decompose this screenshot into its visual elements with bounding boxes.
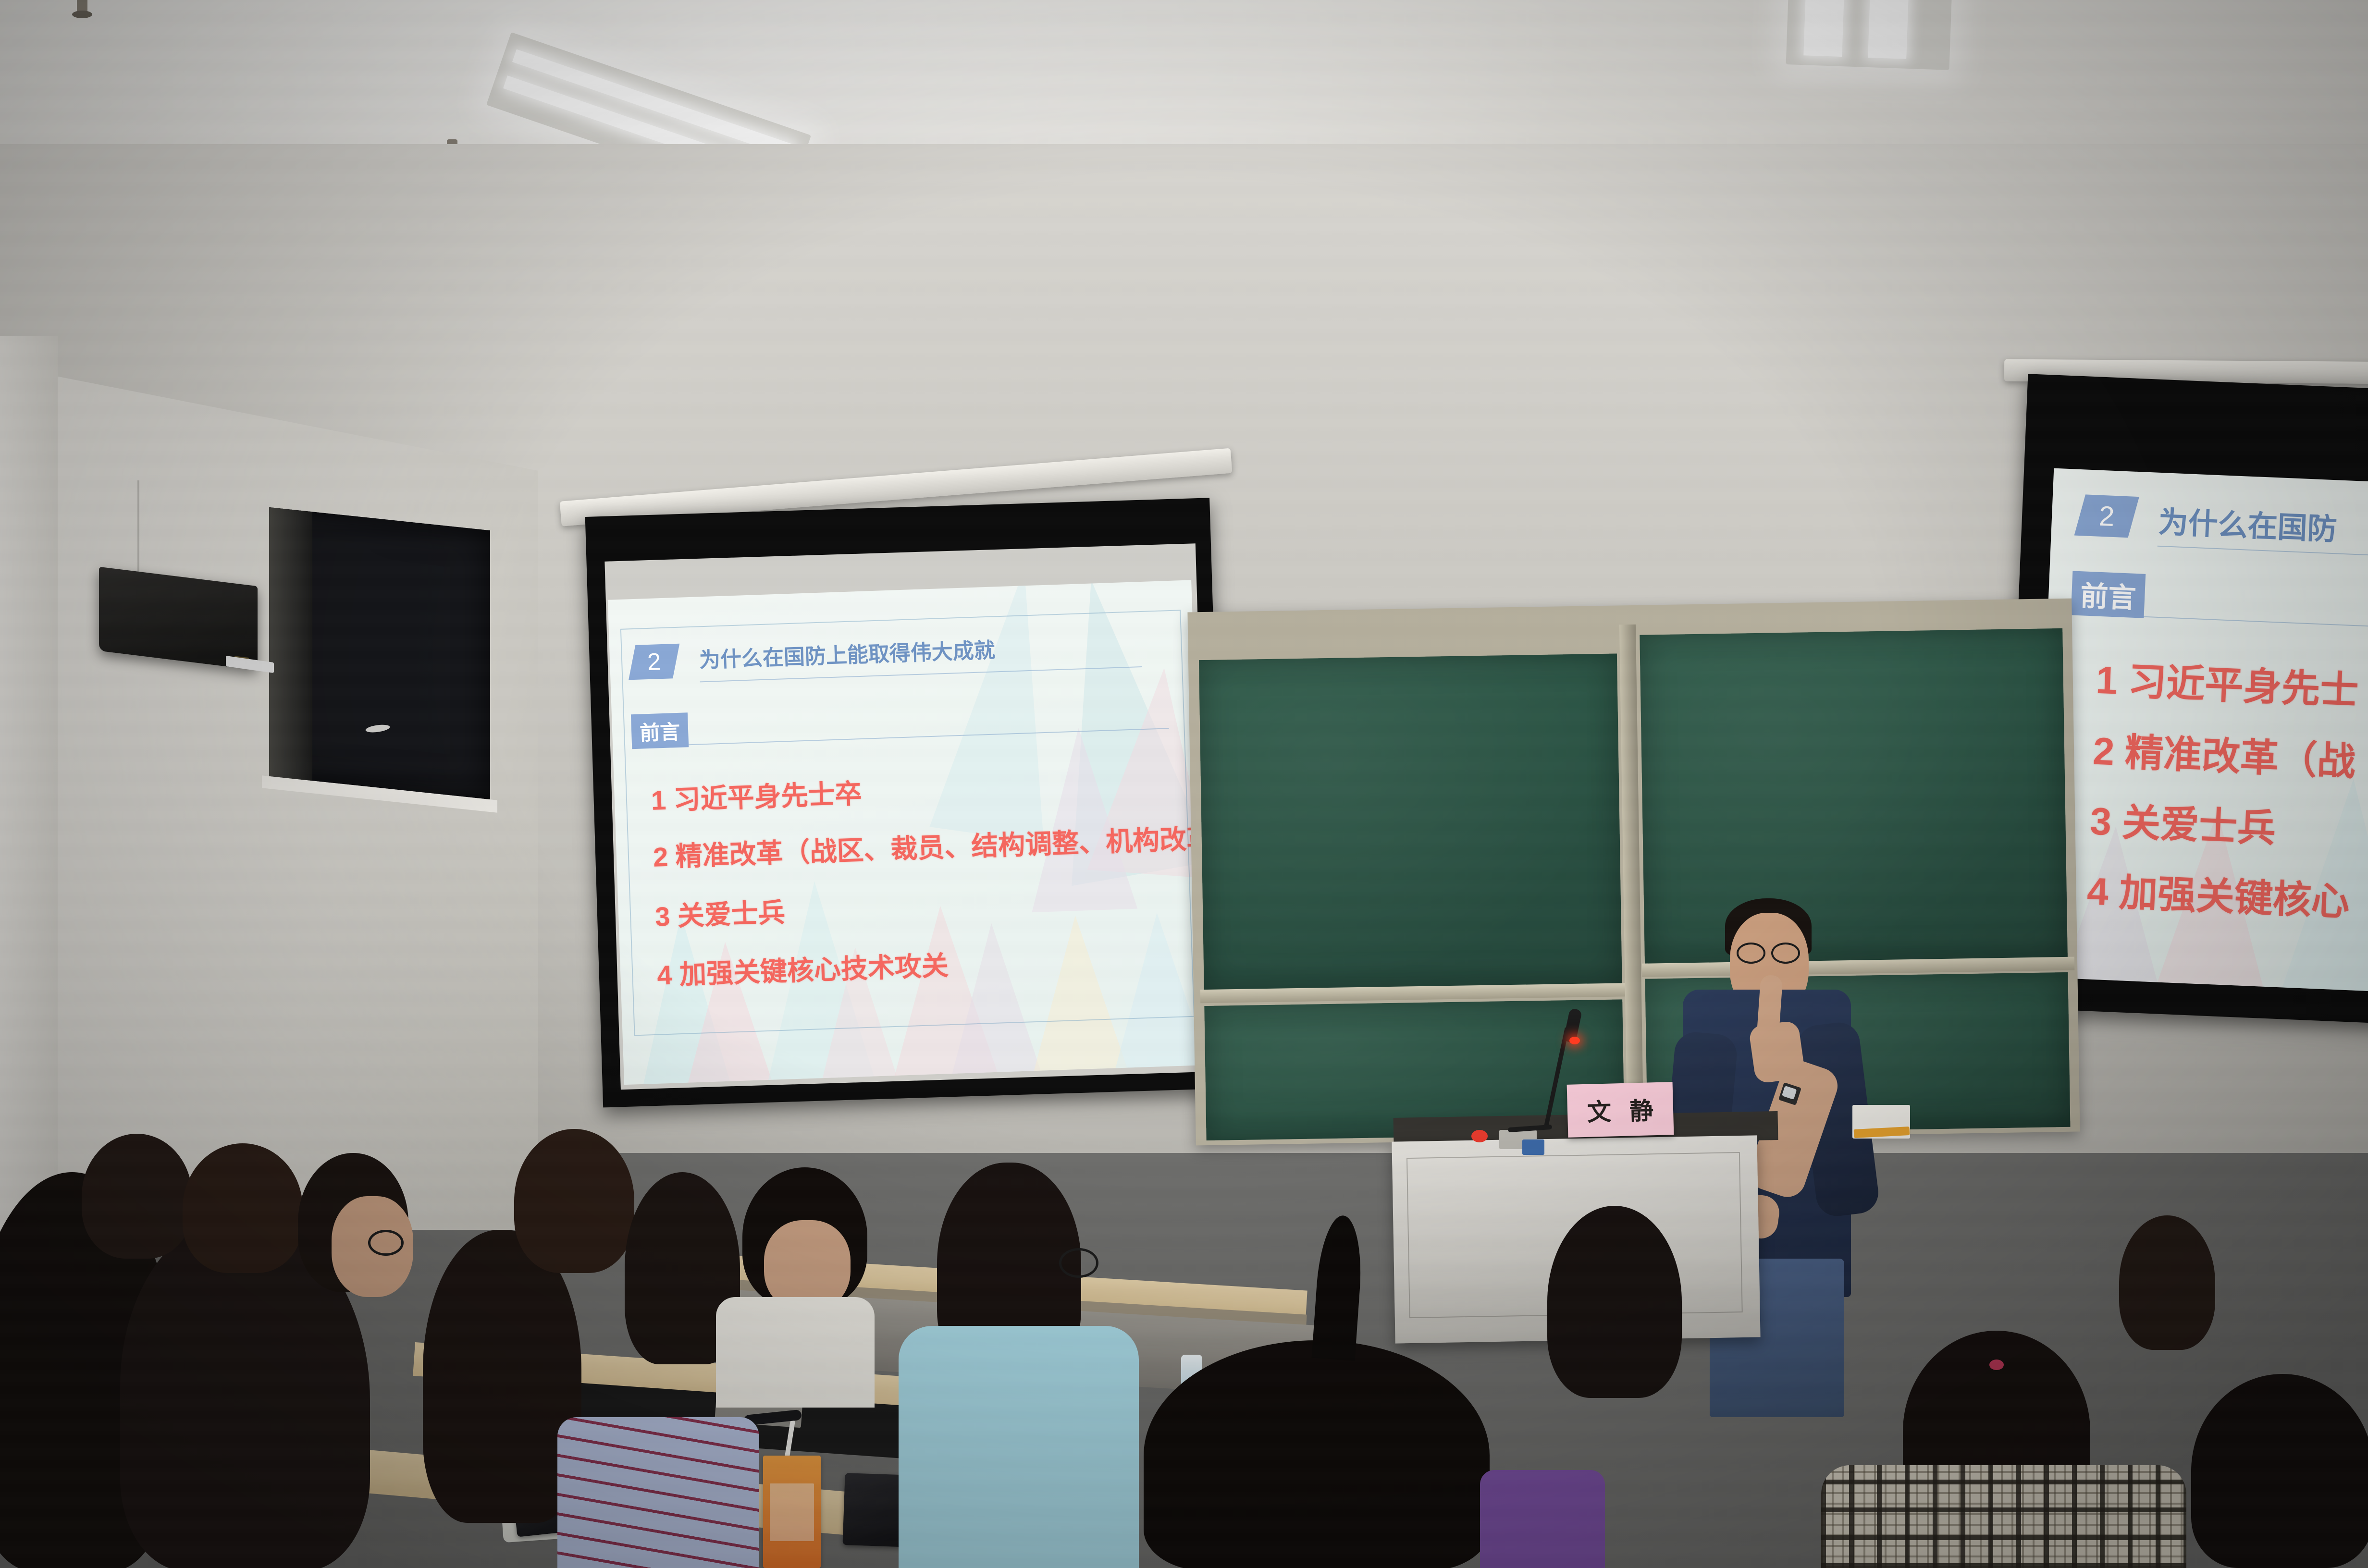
speaker-wire: [137, 480, 139, 581]
fluorescent-light: [1786, 0, 1953, 70]
wall-pillar: [0, 336, 58, 1249]
name-card: 文 静: [1567, 1082, 1674, 1138]
slide-tag-label: 前言: [639, 715, 680, 746]
student-head: [1144, 1340, 1490, 1568]
student-eyeglasses: [368, 1230, 404, 1256]
student-head: [1547, 1206, 1682, 1398]
slide-bullet: 4 加强关键核心: [2086, 860, 2351, 927]
student-hair-tuft: [1312, 1214, 1365, 1361]
projected-slide: 2 为什么在国防上能取得伟大成就 前言 1 习近平身先士卒 2 精准改革（战区、…: [608, 580, 1208, 1085]
student-plaid-shirt: [1821, 1465, 2186, 1568]
student-head: [2119, 1215, 2215, 1350]
darkened-window: [269, 507, 490, 799]
student-eyeglasses: [1059, 1248, 1098, 1278]
slide-bullet: 1 习近平身先士: [2095, 649, 2360, 716]
window-curtain: [269, 507, 312, 781]
slide-section-badge: 2: [2074, 494, 2139, 538]
student-head: [82, 1134, 192, 1259]
podium-blue-item: [1522, 1139, 1544, 1155]
slide-section-badge: 2: [629, 644, 679, 680]
slide-tag-badge: 前言: [631, 712, 689, 749]
slide-bullet: 3 关爱士兵: [654, 891, 786, 934]
name-card-char-2: 静: [1629, 1091, 1654, 1127]
podium-red-knob: [1471, 1130, 1488, 1142]
orange-juice-box: [763, 1456, 821, 1568]
student-purple-shirt: [1480, 1470, 1605, 1568]
chalkboard-panel: [1199, 653, 1622, 992]
student-head: [514, 1129, 634, 1273]
microphone-led: [1569, 1037, 1580, 1044]
slide-bullet: 2 精准改革（战: [2092, 720, 2357, 787]
student-striped-shirt: [557, 1417, 759, 1568]
hair-clip: [1989, 1360, 2004, 1370]
slide-tag-badge: 前言: [2071, 571, 2146, 618]
window-glint: [365, 723, 391, 734]
projected-slide-right: 2 为什么在国防 前言 1 习近平身先士 2 精准改革（战 3 关爱士兵 4 加…: [2033, 468, 2368, 994]
slide-section-number: 2: [2098, 500, 2115, 532]
fire-sprinkler-head: [77, 0, 87, 12]
name-card-char-1: 文: [1587, 1093, 1612, 1128]
student-light-blue-shirt: [899, 1326, 1139, 1568]
presenter-eyeglasses: [1737, 943, 1765, 964]
student-head: [2191, 1374, 2368, 1568]
slide-section-title: 为什么在国防: [2158, 498, 2338, 548]
slide-tag-rule: [2144, 616, 2368, 631]
student-white-shirt: [716, 1297, 875, 1408]
slide-title-rule: [2158, 546, 2368, 560]
slide-tag-label: 前言: [2080, 573, 2137, 616]
presenter-index-finger: [1757, 975, 1783, 1039]
juice-box-label: [770, 1483, 814, 1541]
classroom-photo-scene: 2 为什么在国防上能取得伟大成就 前言 1 习近平身先士卒 2 精准改革（战区、…: [0, 0, 2368, 1568]
presenter-eyeglasses: [1771, 943, 1800, 964]
student-head: [183, 1143, 303, 1273]
projection-screen-left: 2 为什么在国防上能取得伟大成就 前言 1 习近平身先士卒 2 精准改革（战区、…: [555, 472, 1252, 1127]
slide-bullet: 1 习近平身先士卒: [651, 772, 863, 818]
chalkboard-panel: [1640, 628, 2068, 967]
green-chalkboard: [1187, 599, 2080, 1146]
slide-bullet: 3 关爱士兵: [2089, 790, 2277, 853]
slide-section-number: 2: [647, 648, 661, 676]
